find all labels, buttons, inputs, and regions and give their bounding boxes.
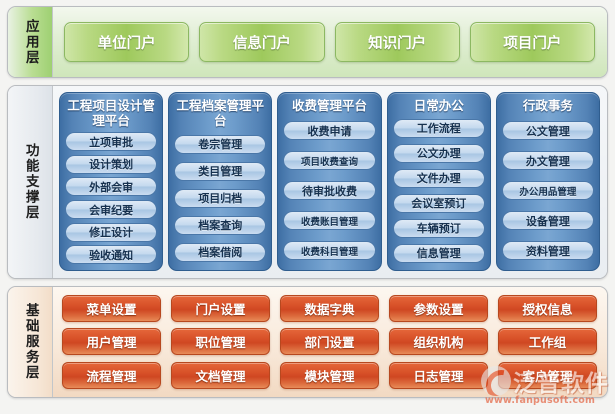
service-button-user-management[interactable]: 用户管理	[62, 328, 161, 355]
layer-application-body: 单位门户 信息门户 知识门户 项目门户	[52, 7, 607, 77]
layer-function-support-label-text: 功能支撑层	[22, 143, 38, 221]
portal-button-project[interactable]: 项目门户	[470, 22, 595, 62]
platform-items-administration: 公文管理 办文管理 办公用品管理 设备管理 资料管理	[502, 117, 594, 265]
platform-items-daily-office: 工作流程 公文办理 文件办理 会议室预订 车辆预订 信息管理	[393, 117, 485, 265]
base-service-row: 用户管理 职位管理 部门设置 组织机构 工作组	[62, 328, 597, 355]
platform-title-archive: 工程档案管理平台	[174, 97, 266, 132]
base-service-row: 菜单设置 门户设置 数据字典 参数设置 授权信息	[62, 295, 597, 322]
module-button[interactable]: 文件办理	[393, 169, 485, 188]
service-button-authorization-info[interactable]: 授权信息	[498, 295, 597, 322]
platform-column-administration: 行政事务 公文管理 办文管理 办公用品管理 设备管理 资料管理	[496, 92, 600, 271]
platform-items-archive: 卷宗管理 类目管理 项目归档 档案查询 档案借阅	[174, 132, 266, 266]
module-button[interactable]: 收费科目管理	[283, 241, 375, 260]
service-button-document-management[interactable]: 文档管理	[171, 362, 270, 389]
layer-base-service-label: 基础服务层	[8, 287, 52, 397]
service-button-work-group[interactable]: 工作组	[498, 328, 597, 355]
module-button[interactable]: 设计策划	[65, 155, 157, 174]
module-button[interactable]: 项目收费查询	[283, 151, 375, 170]
module-button[interactable]: 会审纪要	[65, 200, 157, 219]
platform-column-design: 工程项目设计管理平台 立项审批 设计策划 外部会审 会审纪要 修正设计 验收通知	[59, 92, 163, 271]
architecture-diagram: 应用层 单位门户 信息门户 知识门户 项目门户 功能支撑层 工程项目设计管理平台…	[0, 0, 615, 414]
module-button[interactable]: 验收通知	[65, 245, 157, 264]
service-button-log-management[interactable]: 日志管理	[389, 362, 488, 389]
service-button-parameter-settings[interactable]: 参数设置	[389, 295, 488, 322]
service-button-position-management[interactable]: 职位管理	[171, 328, 270, 355]
module-button[interactable]: 会议室预订	[393, 194, 485, 213]
module-button[interactable]: 外部会审	[65, 177, 157, 196]
service-button-module-management[interactable]: 模块管理	[280, 362, 379, 389]
module-button[interactable]: 待审批收费	[283, 181, 375, 200]
module-button[interactable]: 立项审批	[65, 132, 157, 151]
module-button[interactable]: 信息管理	[393, 244, 485, 263]
platform-column-charging: 收费管理平台 收费申请 项目收费查询 待审批收费 收费账目管理 收费科目管理	[277, 92, 381, 271]
module-button[interactable]: 档案查询	[174, 216, 266, 235]
service-button-organization[interactable]: 组织机构	[389, 328, 488, 355]
layer-application-label-text: 应用层	[22, 19, 38, 66]
platform-column-archive: 工程档案管理平台 卷宗管理 类目管理 项目归档 档案查询 档案借阅	[168, 92, 272, 271]
service-button-portal-settings[interactable]: 门户设置	[171, 295, 270, 322]
module-button[interactable]: 档案借阅	[174, 243, 266, 262]
layer-application: 应用层 单位门户 信息门户 知识门户 项目门户	[7, 6, 608, 78]
platform-items-charging: 收费申请 项目收费查询 待审批收费 收费账目管理 收费科目管理	[283, 117, 375, 265]
portal-button-knowledge[interactable]: 知识门户	[335, 22, 460, 62]
layer-application-divider	[52, 7, 53, 77]
base-service-row: 流程管理 文档管理 模块管理 日志管理 客户管理	[62, 362, 597, 389]
platform-title-charging: 收费管理平台	[283, 97, 375, 117]
module-button[interactable]: 办公用品管理	[502, 181, 594, 200]
module-button[interactable]: 收费账目管理	[283, 211, 375, 230]
platform-title-design: 工程项目设计管理平台	[65, 97, 157, 132]
module-button[interactable]: 收费申请	[283, 121, 375, 140]
module-button[interactable]: 资料管理	[502, 241, 594, 260]
module-button[interactable]: 工作流程	[393, 119, 485, 138]
layer-application-label: 应用层	[8, 7, 52, 77]
portal-button-information[interactable]: 信息门户	[199, 22, 324, 62]
platform-column-daily-office: 日常办公 工作流程 公文办理 文件办理 会议室预订 车辆预订 信息管理	[387, 92, 491, 271]
layer-base-service-divider	[52, 287, 53, 397]
platform-title-administration: 行政事务	[502, 97, 594, 117]
module-button[interactable]: 车辆预订	[393, 219, 485, 238]
module-button[interactable]: 卷宗管理	[174, 135, 266, 154]
service-button-menu-settings[interactable]: 菜单设置	[62, 295, 161, 322]
layer-function-support-label: 功能支撑层	[8, 86, 52, 278]
module-button[interactable]: 修正设计	[65, 223, 157, 242]
service-button-customer-management[interactable]: 客户管理	[498, 362, 597, 389]
layer-function-support: 功能支撑层 工程项目设计管理平台 立项审批 设计策划 外部会审 会审纪要 修正设…	[7, 85, 608, 279]
platform-items-design: 立项审批 设计策划 外部会审 会审纪要 修正设计 验收通知	[65, 132, 157, 266]
layer-base-service-body: 菜单设置 门户设置 数据字典 参数设置 授权信息 用户管理 职位管理 部门设置 …	[52, 287, 607, 397]
portal-button-unit[interactable]: 单位门户	[64, 22, 189, 62]
layer-function-support-divider	[52, 86, 53, 278]
module-button[interactable]: 公文办理	[393, 144, 485, 163]
module-button[interactable]: 办文管理	[502, 151, 594, 170]
layer-base-service: 基础服务层 菜单设置 门户设置 数据字典 参数设置 授权信息 用户管理 职位管理…	[7, 286, 608, 398]
service-button-process-management[interactable]: 流程管理	[62, 362, 161, 389]
service-button-data-dictionary[interactable]: 数据字典	[280, 295, 379, 322]
module-button[interactable]: 项目归档	[174, 189, 266, 208]
module-button[interactable]: 设备管理	[502, 211, 594, 230]
module-button[interactable]: 公文管理	[502, 121, 594, 140]
module-button[interactable]: 类目管理	[174, 162, 266, 181]
platform-title-daily-office: 日常办公	[393, 97, 485, 117]
layer-function-support-body: 工程项目设计管理平台 立项审批 设计策划 外部会审 会审纪要 修正设计 验收通知…	[52, 86, 607, 278]
layer-base-service-label-text: 基础服务层	[22, 303, 38, 381]
service-button-department-settings[interactable]: 部门设置	[280, 328, 379, 355]
